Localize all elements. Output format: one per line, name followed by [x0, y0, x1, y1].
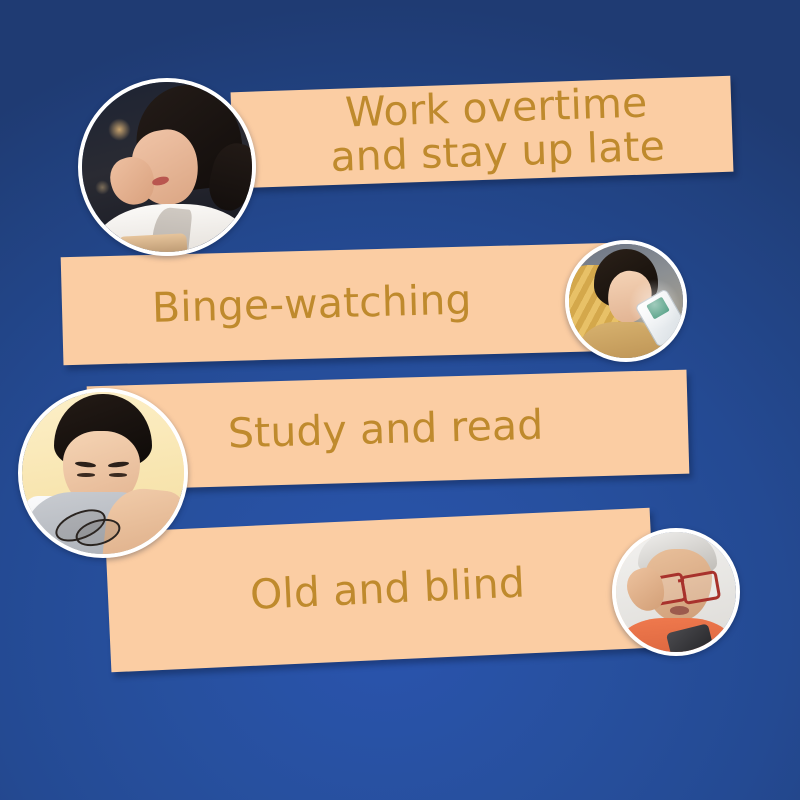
poster-canvas: Work overtime and stay up late Binge-wat…	[0, 0, 800, 800]
screen-glow-shape	[628, 278, 680, 330]
right-closed-eye-shape	[109, 473, 127, 477]
elderly-man-photo	[612, 528, 740, 656]
banner-label-work-overtime: Work overtime and stay up late	[231, 79, 734, 183]
red-glasses-right-lens-shape	[680, 570, 722, 605]
banner-binge-watching[interactable]: Binge-watching	[61, 243, 619, 365]
banner-label-binge-watching: Binge-watching	[62, 275, 618, 333]
banner-label-old-and-blind: Old and blind	[107, 556, 653, 625]
banner-old-and-blind[interactable]: Old and blind	[105, 508, 656, 673]
tired-schoolboy-photo	[18, 388, 188, 558]
banner-work-overtime[interactable]: Work overtime and stay up late	[231, 76, 734, 189]
laptop-shape	[119, 233, 188, 256]
mouth-shape	[670, 606, 689, 614]
tired-businesswoman-photo	[78, 78, 256, 256]
woman-in-bed-with-phone-photo	[565, 240, 687, 362]
left-closed-eye-shape	[77, 473, 95, 477]
